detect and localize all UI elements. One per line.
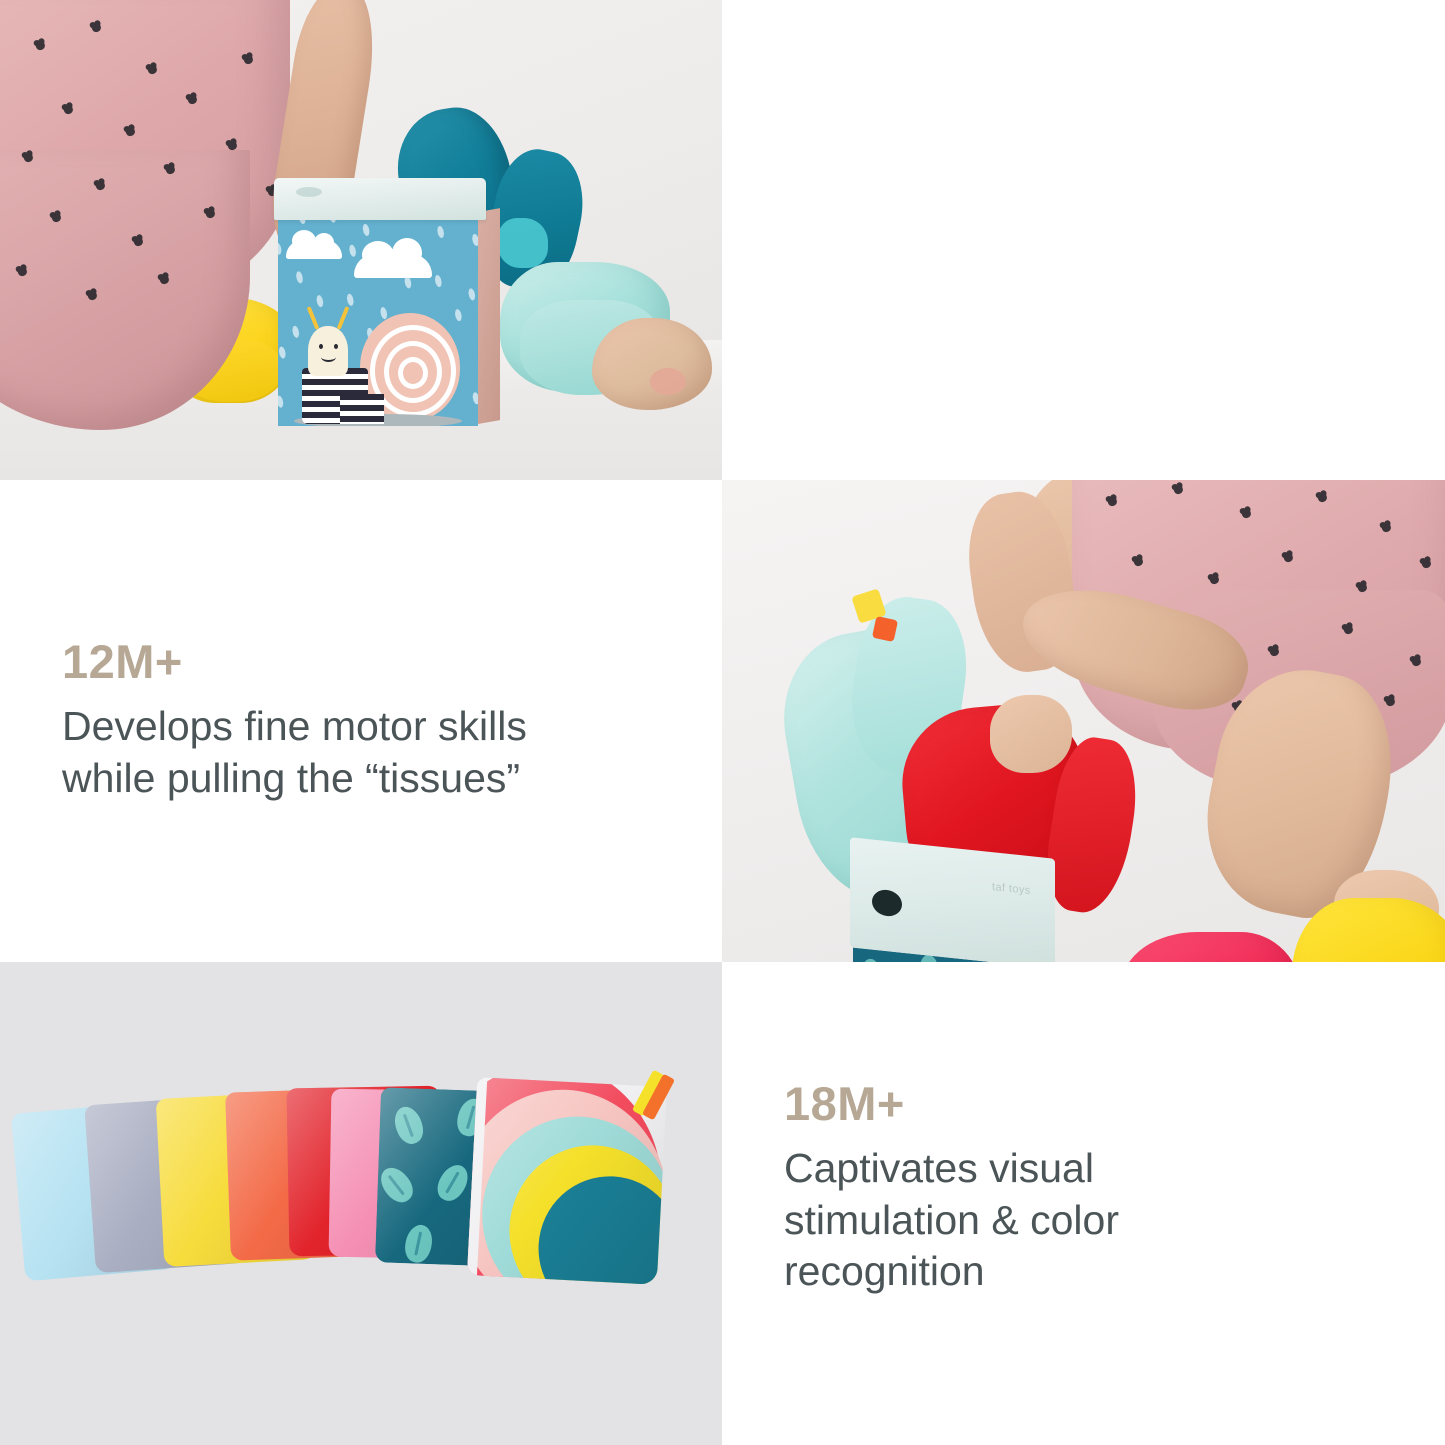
snail-eye xyxy=(319,344,323,349)
shell-ring xyxy=(398,357,428,389)
box-lid xyxy=(274,178,486,220)
panel-12m: 12M+ Develops fine motor skills while pu… xyxy=(0,480,722,962)
baby-toes xyxy=(650,368,686,395)
product-benefits-infographic: 9M+ Develops sensory touch with the diff… xyxy=(0,0,1445,1445)
box-front-panel xyxy=(278,218,478,426)
snail-eye xyxy=(334,344,338,349)
photo-baby-with-snail-tissue-box xyxy=(0,0,722,480)
koala-tissue-box: taf toys xyxy=(850,848,1055,962)
photo-fabric-squares-fan: taf toys xyxy=(0,962,722,1445)
snail-head xyxy=(308,326,348,376)
panel-9m: 9M+ Develops sensory touch with the diff… xyxy=(722,0,1445,480)
age-label-12m: 12M+ xyxy=(62,638,702,685)
snail-body-stripes xyxy=(340,394,384,424)
teal-scarf-highlight xyxy=(498,218,548,268)
photo-baby-pulling-scarf-koala-box: taf toys xyxy=(722,480,1445,962)
orange-fabric-tab xyxy=(872,616,898,642)
panel-18m: 18M+ Captivates visual stimulation & col… xyxy=(722,962,1445,1445)
snail-smile xyxy=(321,352,336,362)
baby-hand xyxy=(990,695,1072,773)
box-side-panel xyxy=(478,208,500,424)
age-label-18m: 18M+ xyxy=(784,1080,1384,1127)
baby-foot xyxy=(592,318,712,410)
box-lid-opening xyxy=(296,187,322,197)
benefit-block-18m: 18M+ Captivates visual stimulation & col… xyxy=(784,1080,1384,1298)
benefit-text-12m: Develops fine motor skills while pulling… xyxy=(62,701,702,804)
benefit-text-18m: Captivates visual stimulation & color re… xyxy=(784,1143,1384,1298)
snail-tissue-box xyxy=(278,178,483,428)
cloud-icon xyxy=(354,254,432,278)
cloud-icon xyxy=(286,240,342,259)
benefit-block-12m: 12M+ Develops fine motor skills while pu… xyxy=(62,638,702,804)
